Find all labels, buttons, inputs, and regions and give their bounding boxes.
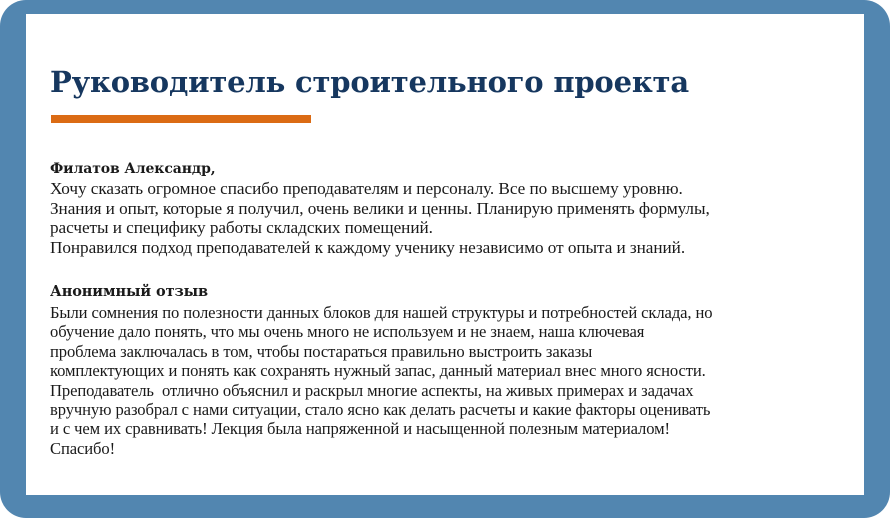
slide-body: Руководитель строительного проекта Филат… (50, 14, 862, 495)
orange-accent-bar (51, 115, 311, 123)
reviewer-name: Филатов Александр, (50, 160, 862, 179)
review-block-anonymous: Анонимный отзыв Были сомнения по полезно… (50, 280, 862, 458)
reviewer-name: Анонимный отзыв (50, 280, 862, 303)
page-title: Руководитель строительного проекта (50, 65, 689, 99)
review-block-filatov: Филатов Александр, Хочу сказать огромное… (50, 160, 862, 257)
review-text: Были сомнения по полезности данных блоко… (50, 303, 862, 458)
review-text: Хочу сказать огромное спасибо преподават… (50, 179, 862, 257)
slide-frame: Руководитель строительного проекта Филат… (0, 0, 890, 518)
slide-content-area: Руководитель строительного проекта Филат… (26, 14, 864, 495)
